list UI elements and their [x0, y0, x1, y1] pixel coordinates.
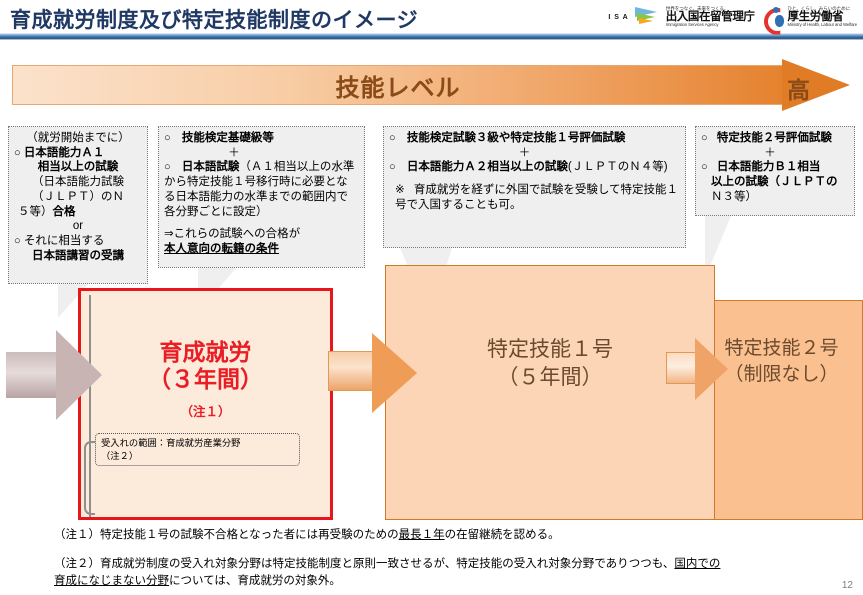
- agency-logos: I S A 世界をつなぐ、未来をつくる。 出入国在留管理庁 Immigratio…: [608, 2, 857, 32]
- box2-bullet2-bold: 日本語試験: [182, 161, 240, 173]
- box3-bullet2-rest: (ＪＬＰＴのＮ４等): [568, 161, 668, 173]
- page-title: 育成就労制度及び特定技能制度のイメージ: [10, 4, 418, 34]
- ikusei-note-ref: （注１）: [81, 401, 330, 420]
- footnote-2-line1: （注２）育成就労制度の受入れ対象分野は特定技能制度と原則一致させるが、特定技能の…: [54, 556, 854, 573]
- box2-bullet1-mark: ○: [164, 132, 171, 144]
- skill-level-banner: 技能レベル 高: [12, 59, 850, 111]
- ikusei-scope-line2: （注２）: [101, 450, 294, 463]
- box1-bullet1-bold1: 日本語能力Ａ１: [24, 147, 105, 159]
- box2-plus: ＋: [164, 146, 359, 161]
- mhlw-logo: ひと、くらし、みらいのために 厚生労働省 Ministry of Health,…: [763, 6, 857, 29]
- ikusei-duration: （３年間）: [81, 366, 330, 393]
- box3-bullet2-bold: 日本語能力Ａ２相当以上の試験: [407, 161, 568, 173]
- box2-conclusion-lead: ⇒これらの試験への合格が: [164, 227, 359, 242]
- box1-line1: （就労開始までに）: [14, 131, 142, 146]
- stage-box-ikusei-shuro: 育成就労 （３年間） （注１） 受入れの範囲：育成就労産業分野 （注２）: [78, 288, 333, 520]
- footnote-2-underlined-b: 育成になじまない分野: [54, 575, 169, 587]
- box4-bullet1-bold: 特定技能２号評価試験: [717, 132, 832, 144]
- box2-conclusion-bold: 本人意向の転籍の条件: [164, 242, 359, 257]
- ikusei-title-group: 育成就労 （３年間）: [81, 339, 330, 393]
- box3-plus: ＋: [389, 146, 680, 161]
- box1-bullet1-rest2: （ＪＬＰＴ）のＮ: [14, 190, 142, 205]
- box1-or: or: [14, 219, 142, 234]
- callout-box-sf1-requirements: ○ 技能検定試験３級や特定技能１号評価試験 ＋ ○ 日本語能力Ａ２相当以上の試験…: [383, 126, 686, 248]
- box1-bullet1-rest3: ５等）: [18, 206, 53, 218]
- isa-abbr-label: I S A: [608, 14, 628, 21]
- isa-logo: I S A 世界をつなぐ、未来をつくる。 出入国在留管理庁 Immigratio…: [608, 5, 754, 29]
- box4-plus: ＋: [701, 146, 849, 161]
- box4-bullet2-bold2: 以上の試験（ＪＬＰＴの: [701, 175, 849, 190]
- paper-plane-icon: [633, 5, 663, 29]
- box4-bullet2-rest: Ｎ３等）: [701, 190, 849, 205]
- box1-bullet1-mark: ○: [14, 147, 21, 159]
- mhlw-name-en: Ministry of Health, Labour and Welfare: [788, 23, 857, 28]
- footnote-1-underlined: 最長１年: [399, 529, 445, 541]
- mhlw-logo-text: ひと、くらし、みらいのために 厚生労働省 Ministry of Health,…: [788, 6, 857, 28]
- sf1-labels: 特定技能１号 （５年間）: [386, 336, 714, 393]
- arrow-sf1-to-sf2-icon: [666, 338, 728, 400]
- box4-bullet2-bold1: 日本語能力Ｂ１相当: [717, 161, 821, 173]
- box1-bullet2-mark: ○: [14, 235, 21, 247]
- footnote-2-underlined-a: 国内での: [674, 558, 720, 570]
- banner-label: 技能レベル: [12, 65, 784, 105]
- ikusei-scope-note: 受入れの範囲：育成就労産業分野 （注２）: [95, 433, 300, 466]
- box4-bullet2-mark: ○: [701, 161, 708, 173]
- box3-bullet1-mark: ○: [389, 132, 396, 144]
- title-divider: [0, 33, 863, 40]
- isa-name-en: Immigration Services Agency: [666, 23, 755, 28]
- page-number: 12: [842, 580, 853, 591]
- box2-bullet1-bold: 技能検定基礎級等: [182, 132, 274, 144]
- box3-note-mark: ※: [395, 184, 405, 196]
- box3-note-text: 育成就労を経ずに外国で試験を受験して特定技能１号で入国することも可。: [395, 184, 678, 211]
- sf1-duration: （５年間）: [386, 364, 714, 392]
- callout-box-transfer-conditions: ○ 技能検定基礎級等 ＋ ○ 日本語試験（Ａ１相当以上の水準から特定技能１号移行…: [158, 126, 365, 268]
- people-circle-icon: [763, 6, 785, 29]
- box1-bullet1-bold2: 相当以上の試験: [14, 160, 142, 175]
- callout-box-sf2-requirements: ○ 特定技能２号評価試験 ＋ ○ 日本語能力Ｂ１相当 以上の試験（ＪＬＰＴの Ｎ…: [695, 126, 855, 216]
- ikusei-title: 育成就労: [81, 339, 330, 366]
- box1-bullet1-rest1: （日本語能力試験: [14, 175, 142, 190]
- slide-root: 育成就労制度及び特定技能制度のイメージ I S A 世界をつなぐ、未来をつくる。…: [0, 0, 863, 595]
- arrow-ikusei-to-sf1-icon: [328, 333, 418, 413]
- footnote-2-line2: 育成になじまない分野については、育成就労の対象外。: [54, 573, 854, 590]
- box1-bullet2-bold: 日本語講習の受講: [14, 249, 142, 264]
- footnote-1: （注１）特定技能１号の試験不合格となった者には再受験のための最長１年の在留継続を…: [54, 527, 560, 544]
- footnote-2: （注２）育成就労制度の受入れ対象分野は特定技能制度と原則一致させるが、特定技能の…: [54, 556, 854, 589]
- sf1-title: 特定技能１号: [386, 336, 714, 364]
- box3-bullet1-bold: 技能検定試験３級や特定技能１号評価試験: [407, 132, 626, 144]
- box3-bullet2-mark: ○: [389, 161, 396, 173]
- box4-bullet1-mark: ○: [701, 132, 708, 144]
- isa-logo-text: 世界をつなぐ、未来をつくる。 出入国在留管理庁 Immigration Serv…: [666, 6, 755, 28]
- banner-high-label: 高: [787, 71, 810, 105]
- callout-box-entry-requirements: （就労開始までに） ○ 日本語能力Ａ１ 相当以上の試験 （日本語能力試験 （ＪＬ…: [8, 126, 148, 284]
- stage-box-tokutei-ginou-2: 特定技能２号 （制限なし）: [700, 300, 863, 520]
- box1-bullet2-text: それに相当する: [24, 235, 105, 247]
- ikusei-scope-line1: 受入れの範囲：育成就労産業分野: [101, 437, 294, 450]
- arrow-entry-to-ikusei-icon: [6, 330, 102, 420]
- ikusei-brace-icon: [84, 441, 95, 515]
- box2-bullet2-mark: ○: [164, 161, 171, 173]
- box1-pass-label: 合格: [53, 206, 76, 218]
